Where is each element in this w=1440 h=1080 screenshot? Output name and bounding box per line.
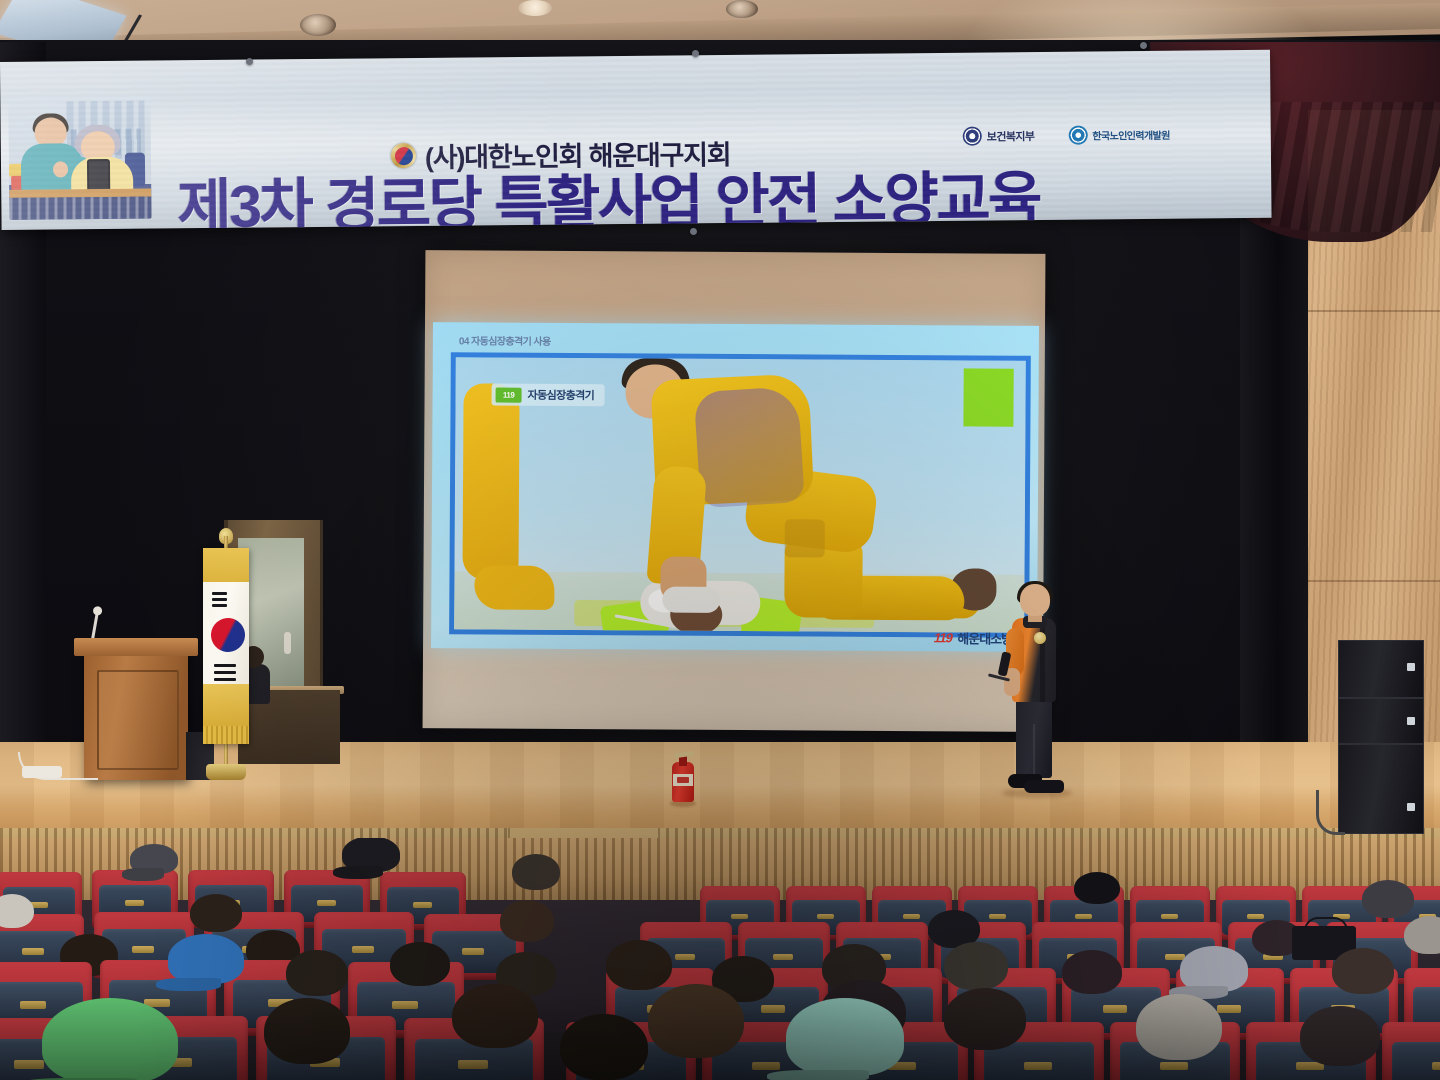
extinguisher-label — [673, 774, 693, 786]
podium-top — [74, 638, 198, 656]
door-handle[interactable] — [284, 632, 291, 654]
119-icon: 119 — [496, 387, 522, 402]
uniform-badge-icon — [1034, 632, 1046, 644]
audience-cap — [786, 998, 904, 1076]
banner-hook-icon — [690, 228, 697, 235]
slide-photo: 119 자동심장충격기 — [449, 352, 1031, 638]
fire-extinguisher[interactable] — [672, 752, 694, 802]
taegeuk-emblem-icon — [391, 143, 416, 168]
audience-head — [1074, 872, 1120, 904]
audience-head — [190, 894, 242, 932]
audience-head — [1300, 1006, 1380, 1066]
sponsor-logo-label: 한국노인인력개발원 — [1092, 127, 1170, 143]
spiral-wave-icon — [1066, 123, 1089, 146]
sponsor-logo-mohw: 보건복지부 — [963, 126, 1035, 146]
audience-head — [264, 998, 350, 1064]
slide-badge-label: 자동심장충격기 — [528, 387, 595, 403]
ceiling-light-icon — [518, 0, 552, 16]
audience-head — [1136, 994, 1222, 1060]
audience-head — [1062, 950, 1122, 994]
slide-accent-box — [963, 368, 1013, 426]
sponsor-logo-klfdi: 한국노인인력개발원 — [1068, 125, 1170, 145]
ceiling-vent-icon — [300, 14, 336, 36]
audience-head — [648, 984, 744, 1058]
speaker-cable — [1316, 790, 1345, 835]
audience-hat — [1180, 946, 1248, 992]
audience-area — [0, 838, 1440, 1080]
audience-head — [1332, 948, 1394, 994]
banner-hook-icon — [692, 50, 699, 57]
podium-front-panel — [97, 670, 179, 770]
korean-flag-taegukgi — [203, 548, 249, 744]
banner-hook-icon — [246, 58, 253, 65]
auditorium-photo: (사)대한노인회 해운대구지회 보건복지부 한국노인인력개발원 제3차 경로당 … — [0, 0, 1440, 1080]
presenter-firefighter — [1004, 584, 1064, 800]
audience-cap — [42, 998, 178, 1080]
banner-hook-icon — [1140, 42, 1147, 49]
ceiling-vent-icon — [726, 0, 758, 18]
slide-header-label: 04 자동심장충격기 사용 — [459, 332, 551, 348]
taeguk-circle-icon — [207, 614, 249, 657]
audience-hat — [130, 844, 178, 874]
slide-badge: 119 자동심장충격기 — [492, 384, 605, 407]
119-logo-icon: 119 — [933, 630, 954, 645]
taegeuk-swirl-icon — [960, 124, 984, 148]
audience-head — [512, 854, 560, 890]
audience-hat — [342, 838, 400, 872]
audience-head — [452, 984, 538, 1048]
shoe-icon — [1024, 780, 1064, 793]
audience-head — [1362, 880, 1414, 918]
audience-head — [560, 1014, 648, 1080]
audience-head — [1404, 916, 1440, 954]
audience-head — [944, 942, 1008, 990]
power-strip — [22, 766, 62, 778]
wooden-podium — [84, 648, 188, 780]
audience-head — [286, 950, 348, 996]
seat[interactable] — [1382, 1022, 1440, 1080]
audience-cap — [168, 934, 244, 984]
event-banner: (사)대한노인회 해운대구지회 보건복지부 한국노인인력개발원 제3차 경로당 … — [0, 50, 1272, 230]
banner-illustration — [8, 95, 151, 220]
audience-head — [606, 940, 672, 990]
projection-screen: 04 자동심장충격기 사용 — [423, 250, 1046, 732]
sponsor-logo-label: 보건복지부 — [987, 128, 1035, 144]
banner-sponsor-logos: 보건복지부 한국노인인력개발원 — [963, 125, 1170, 146]
pa-speaker-stack — [1338, 640, 1422, 832]
audience-head — [944, 988, 1026, 1050]
presentation-slide: 04 자동심장충격기 사용 — [431, 322, 1039, 652]
flag-stand-base — [206, 764, 246, 780]
audience-head — [500, 900, 554, 942]
audience-head — [390, 942, 450, 986]
